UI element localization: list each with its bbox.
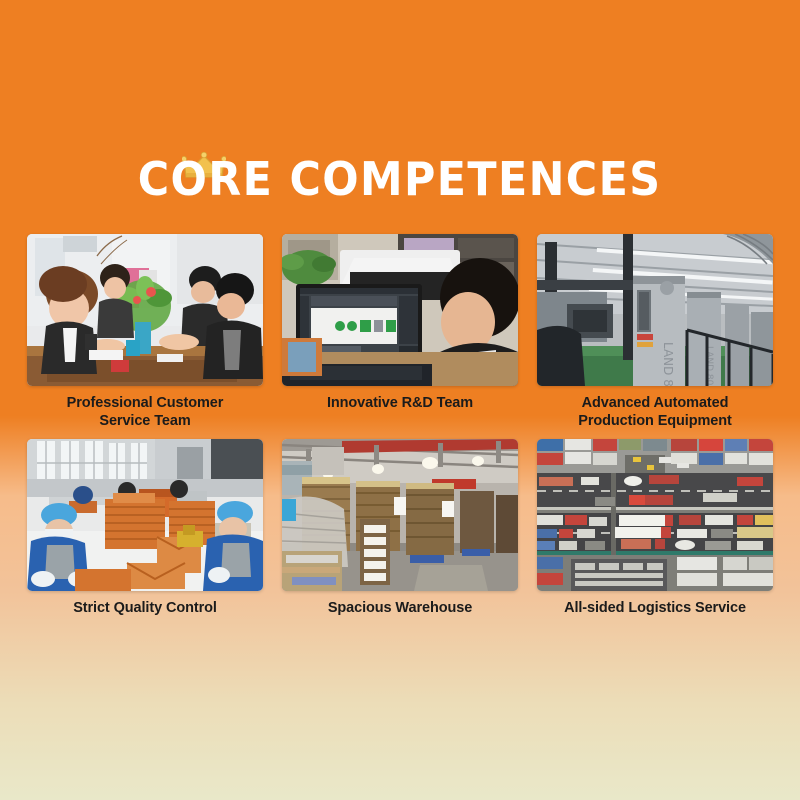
competence-card[interactable]: Spacious Warehouse: [282, 439, 518, 617]
competence-card[interactable]: Professional Customer Service Team: [27, 234, 263, 430]
competence-card[interactable]: LAND 800 LAND 800 Advanced Automated Pro…: [537, 234, 773, 430]
port-logistics-photo: [537, 439, 773, 591]
svg-text:LAND 800: LAND 800: [661, 342, 675, 386]
competences-grid: Professional Customer Service Team: [27, 234, 774, 617]
meeting-room-photo: [27, 234, 263, 386]
card-caption: Innovative R&D Team: [282, 394, 518, 412]
card-caption: All-sided Logistics Service: [537, 599, 773, 617]
competence-card[interactable]: All-sided Logistics Service: [537, 439, 773, 617]
page-title: CORE COMPETENCES: [138, 150, 662, 208]
competence-card[interactable]: Innovative R&D Team: [282, 234, 518, 430]
title-block: CORE COMPETENCES: [0, 150, 800, 208]
warehouse-photo: [282, 439, 518, 591]
competence-card[interactable]: Strict Quality Control: [27, 439, 263, 617]
printing-press-photo: LAND 800 LAND 800: [537, 234, 773, 386]
card-caption: Spacious Warehouse: [282, 599, 518, 617]
quality-inspection-photo: [27, 439, 263, 591]
core-competences-banner: CORE COMPETENCES: [0, 0, 800, 800]
designer-at-computer-photo: [282, 234, 518, 386]
card-caption: Advanced Automated Production Equipment: [537, 394, 773, 430]
card-caption: Strict Quality Control: [27, 599, 263, 617]
card-caption: Professional Customer Service Team: [27, 394, 263, 430]
